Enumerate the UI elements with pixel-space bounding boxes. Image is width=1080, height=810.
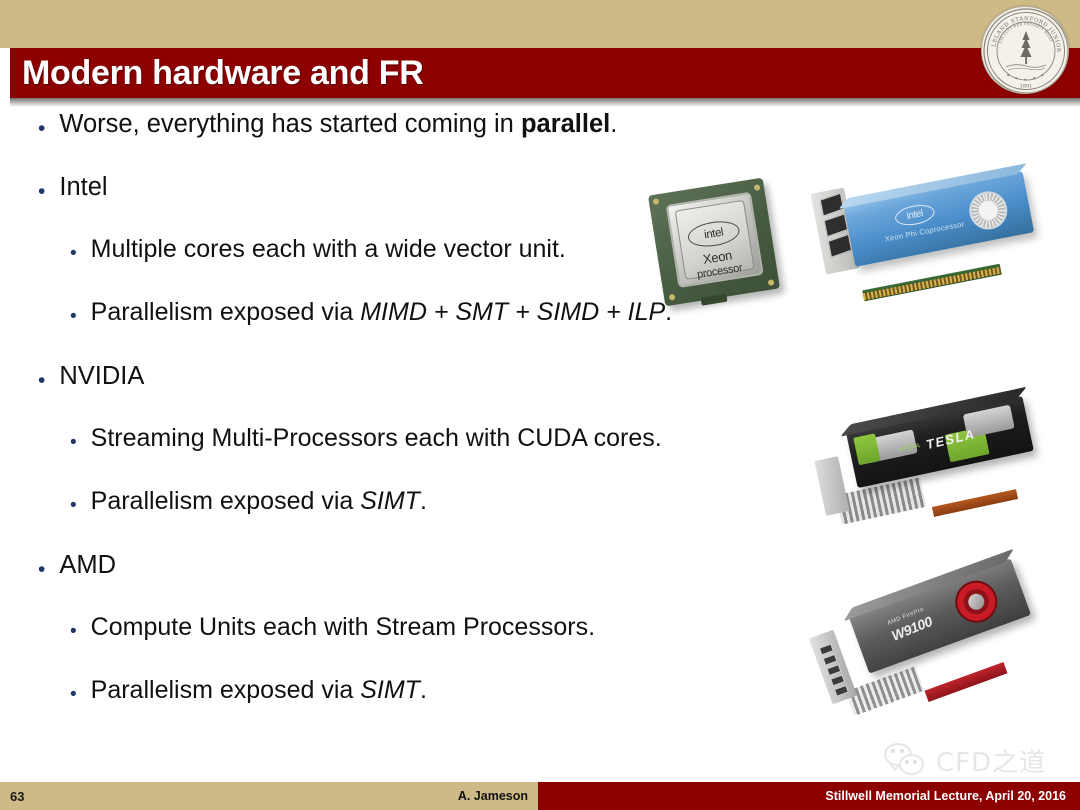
phi-fan-vent <box>966 188 1011 233</box>
bullet-line-intel-parallelism: • Parallelism exposed via MIMD + SMT + S… <box>0 299 672 327</box>
amd-firepro-w9100-photo: AMD FirePro W9100 <box>814 572 1038 710</box>
bullet-line-1: • Worse, everything has started coming i… <box>0 110 617 139</box>
bullet-line-amd-cu: • Compute Units each with Stream Process… <box>0 614 595 642</box>
page-title: Modern hardware and FR <box>22 49 423 97</box>
bullet-text: Compute Units each with Stream Processor… <box>91 614 595 642</box>
bullet-text: Worse, everything has started coming in … <box>59 110 617 138</box>
bullet-text: Parallelism exposed via SIMT. <box>91 488 427 516</box>
bullet-text: AMD <box>59 551 116 579</box>
phi-pcie-connector <box>862 264 1002 302</box>
bullet-line-nvidia-parallelism: • Parallelism exposed via SIMT. <box>0 488 427 516</box>
bullet-line-intel-cores: • Multiple cores each with a wide vector… <box>0 236 566 264</box>
svg-text:✦: ✦ <box>1032 76 1036 82</box>
tesla-heatsink-fins <box>836 477 926 524</box>
amd-pcb <box>924 662 1007 702</box>
amd-shroud: AMD FirePro W9100 <box>849 558 1031 673</box>
wechat-eye <box>913 760 917 764</box>
stanford-seal-graphic: LELAND STANFORD JUNIOR UNIVERSITY DIE LU… <box>982 7 1069 94</box>
amd-fan-housing <box>949 575 1003 629</box>
phi-vent <box>828 234 852 258</box>
bullet-dot: • <box>38 118 45 139</box>
nvidia-tesla-gpu-photo: nVIDIA TESLA <box>814 398 1038 526</box>
phi-vent <box>820 193 844 217</box>
wechat-eye <box>900 749 904 753</box>
phi-model-label: Xeon Phi Coprocessor <box>884 219 965 243</box>
cpu-substrate: intel Xeon processor <box>648 178 780 307</box>
cpu-corner-mark <box>653 198 660 205</box>
bullet-dot: • <box>38 370 45 391</box>
cpu-notch <box>701 294 728 306</box>
cfd-watermark: CFD之道 <box>884 737 1074 783</box>
bullet-dot: • <box>38 181 45 202</box>
cpu-heat-spreader: intel Xeon processor <box>666 192 764 288</box>
svg-text:✦: ✦ <box>1040 73 1044 79</box>
svg-text:1891: 1891 <box>1020 84 1033 90</box>
bullet-line-nvidia-sm: • Streaming Multi-Processors each with C… <box>0 425 662 453</box>
bullet-text: Parallelism exposed via MIMD + SMT + SIM… <box>91 299 672 327</box>
wechat-eye <box>891 749 895 753</box>
title-bar-shadow <box>10 98 1080 107</box>
amd-port <box>823 654 838 666</box>
cpu-heat-spreader-inner: intel Xeon processor <box>675 200 755 280</box>
cpu-corner-mark <box>768 279 775 286</box>
bullet-dot: • <box>70 685 77 704</box>
top-tan-band <box>0 0 1080 48</box>
wechat-eye <box>905 760 909 764</box>
phi-gold-pins <box>863 267 1002 301</box>
bullet-line-amd-parallelism: • Parallelism exposed via SIMT. <box>0 677 427 705</box>
bullet-dot: • <box>38 559 45 580</box>
footer-author: A. Jameson <box>0 782 528 810</box>
amd-port <box>830 674 845 686</box>
stanford-seal: LELAND STANFORD JUNIOR UNIVERSITY DIE LU… <box>981 6 1069 94</box>
svg-text:✦: ✦ <box>1006 73 1010 79</box>
bullet-line-amd: • AMD <box>0 551 116 580</box>
bullet-dot: • <box>70 307 77 326</box>
amd-port <box>834 685 849 697</box>
tesla-shroud: nVIDIA TESLA <box>846 396 1034 488</box>
intel-logo: intel <box>893 202 936 228</box>
bullet-text: Multiple cores each with a wide vector u… <box>91 236 566 264</box>
amd-heatsink-fins <box>846 666 924 716</box>
watermark-text: CFD之道 <box>936 742 1046 779</box>
cpu-corner-mark <box>669 294 676 301</box>
bullet-dot: • <box>70 496 77 515</box>
wechat-bubble-small <box>899 754 924 775</box>
amd-port <box>819 643 834 655</box>
footer-lecture-title: Stillwell Memorial Lecture, April 20, 20… <box>825 782 1066 810</box>
phi-shroud: intel Xeon Phi Coprocessor <box>844 171 1034 267</box>
svg-text:✦: ✦ <box>1014 76 1018 82</box>
bullet-dot: • <box>70 622 77 641</box>
intel-xeon-phi-coprocessor-photo: intel Xeon Phi Coprocessor <box>814 176 1038 304</box>
intel-xeon-processor-photo: intel Xeon processor <box>648 176 788 311</box>
tesla-pcb <box>932 489 1018 517</box>
bullet-line-nvidia: • NVIDIA <box>0 362 144 391</box>
bullet-text: Streaming Multi-Processors each with CUD… <box>91 425 662 453</box>
bullet-dot: • <box>70 244 77 263</box>
bullet-text: Parallelism exposed via SIMT. <box>91 677 427 705</box>
tesla-io-bracket <box>814 456 849 516</box>
bullet-text: Intel <box>59 173 107 201</box>
bullet-dot: • <box>70 433 77 452</box>
cpu-corner-mark <box>754 184 761 191</box>
phi-vent <box>824 213 848 237</box>
intel-logo: intel <box>686 218 741 250</box>
bullet-line-intel: • Intel <box>0 173 108 202</box>
wechat-icon <box>884 743 928 777</box>
bullet-text: NVIDIA <box>59 362 144 390</box>
